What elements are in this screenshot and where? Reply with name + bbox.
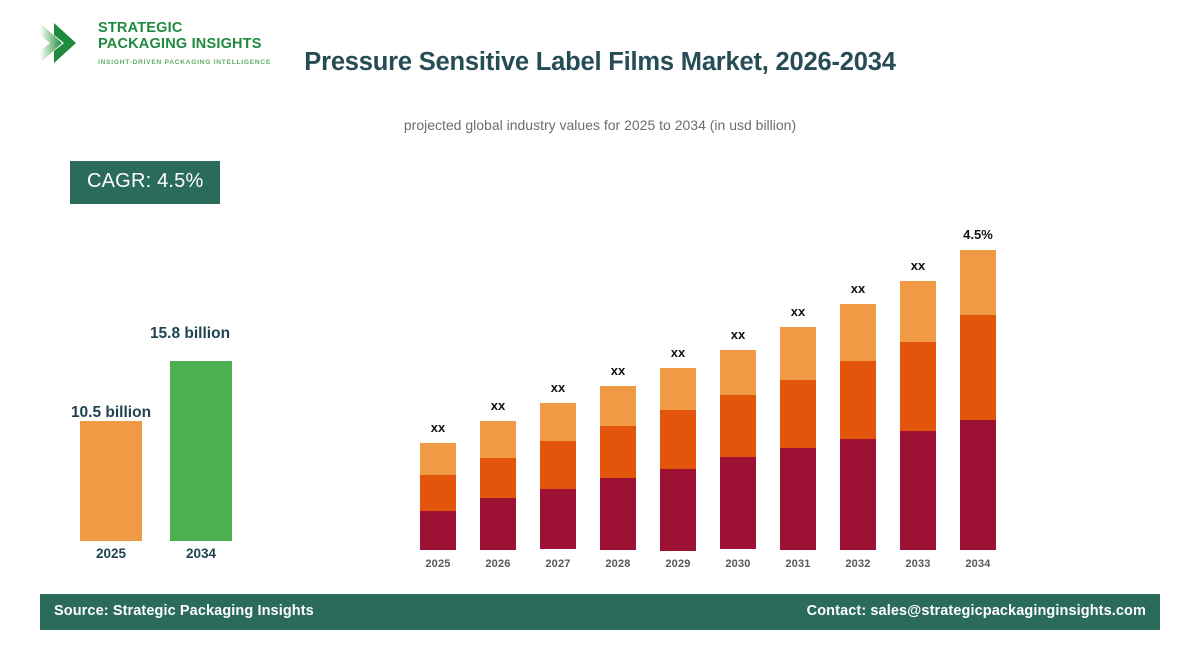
bar-segment-segment1 [780,448,816,550]
comparison-bar-2025 [80,421,142,541]
bar-segment-segment1 [420,511,456,550]
stacked-bar-chart: xx2025xx2026xx2027xx2028xx2029xx2030xx20… [400,190,1020,550]
bar-segment-segment3 [720,350,756,395]
bar-segment-segment1 [480,498,516,550]
bar-segment-segment3 [840,304,876,361]
bar-column: xx2029 [660,368,696,550]
bar-x-label: 2028 [592,558,644,570]
bar-top-label: xx [642,345,714,360]
bar-top-label: xx [702,327,774,342]
bar-segment-segment3 [960,250,996,315]
bar-x-label: 2034 [952,558,1004,570]
bar-segment-segment3 [900,281,936,342]
bar-top-label: xx [882,258,954,273]
infographic-page: STRATEGIC PACKAGING INSIGHTS INSIGHT-DRI… [0,0,1200,650]
page-subtitle: projected global industry values for 202… [300,116,900,135]
bar-column: xx2031 [780,327,816,550]
bar-segment-segment3 [540,403,576,441]
bar-segment-segment2 [960,315,996,420]
footer-contact: Contact: sales@strategicpackaginginsight… [807,603,1146,619]
bar-x-label: 2030 [712,558,764,570]
bar-column: xx2027 [540,403,576,550]
bar-segment-segment1 [960,420,996,550]
bar-segment-segment2 [540,441,576,489]
bar-segment-segment1 [840,439,876,550]
bar-x-label: 2026 [472,558,524,570]
bar-segment-segment1 [600,478,636,550]
footer-source: Source: Strategic Packaging Insights [54,603,314,619]
bar-x-label: 2033 [892,558,944,570]
bar-segment-segment1 [720,457,756,549]
bar-column: xx2025 [420,443,456,550]
bar-segment-segment3 [480,421,516,458]
bar-segment-segment1 [660,469,696,551]
bar-segment-segment3 [660,368,696,410]
bar-x-label: 2025 [412,558,464,570]
bar-segment-segment2 [720,395,756,457]
bar-segment-segment2 [480,458,516,498]
bar-x-label: 2029 [652,558,704,570]
page-title: Pressure Sensitive Label Films Market, 2… [300,44,900,80]
bar-segment-segment1 [540,489,576,549]
bar-top-label: xx [762,304,834,319]
bar-segment-segment2 [780,380,816,448]
bar-top-label: 4.5% [942,227,1014,242]
bar-x-label: 2032 [832,558,884,570]
bar-segment-segment3 [600,386,636,426]
bar-column: xx2028 [600,386,636,550]
bar-top-label: xx [822,281,894,296]
bar-x-label: 2027 [532,558,584,570]
bar-segment-segment3 [780,327,816,380]
comparison-start-year: 2025 [80,546,142,561]
bar-column: xx2032 [840,304,876,550]
bar-segment-segment2 [900,342,936,431]
comparison-start-value: 10.5 billion [36,404,186,422]
footer-bar: Source: Strategic Packaging Insights Con… [40,594,1160,630]
bar-segment-segment1 [900,431,936,550]
bar-column: xx2033 [900,281,936,550]
bar-top-label: xx [522,380,594,395]
bar-top-label: xx [402,420,474,435]
bar-x-label: 2031 [772,558,824,570]
comparison-end-value: 15.8 billion [115,325,265,343]
bar-top-label: xx [462,398,534,413]
bar-column: xx2026 [480,421,516,550]
bar-segment-segment2 [420,475,456,511]
comparison-chart: 10.5 billion 15.8 billion 2025 2034 [0,0,330,600]
comparison-end-year: 2034 [170,546,232,561]
bar-segment-segment2 [600,426,636,478]
bar-top-label: xx [582,363,654,378]
comparison-bar-2034 [170,361,232,541]
bar-segment-segment2 [660,410,696,469]
bar-segment-segment2 [840,361,876,439]
bar-column: 4.5%2034 [960,250,996,550]
bar-segment-segment3 [420,443,456,475]
bar-column: xx2030 [720,350,756,550]
